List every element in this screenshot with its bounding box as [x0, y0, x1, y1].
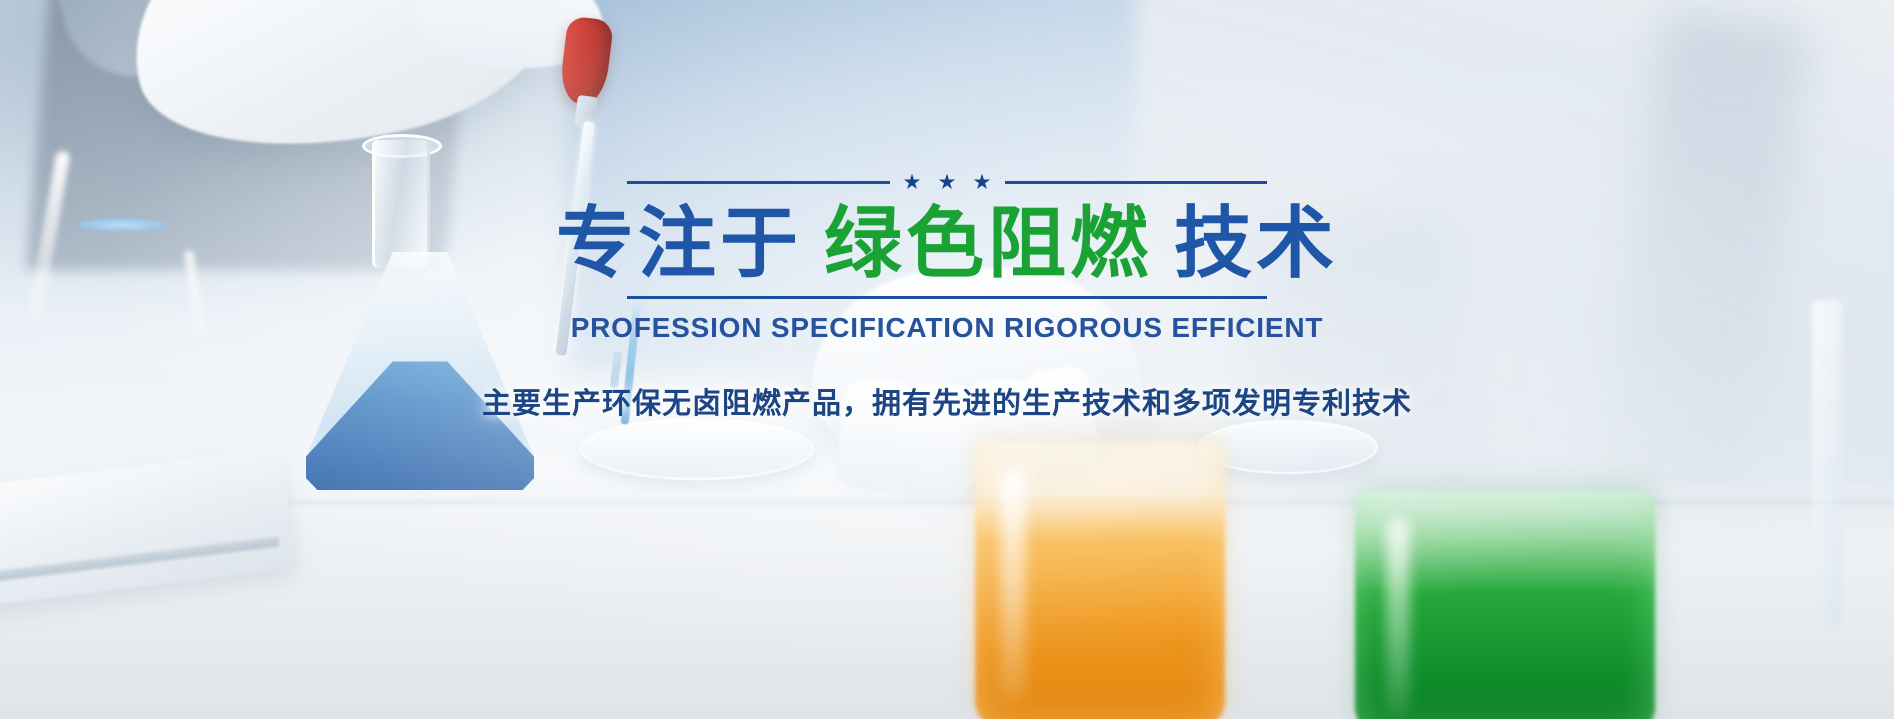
star-icon [974, 174, 991, 191]
divider-rule-right [1005, 181, 1268, 184]
star-icon [904, 174, 921, 191]
description-text: 主要生产环保无卤阻燃产品，拥有先进的生产技术和多项发明专利技术 [482, 380, 1412, 422]
headline-part-1: 专注于 [556, 199, 802, 289]
headline-part-3: 技术 [1174, 199, 1338, 289]
star-icon [939, 174, 956, 191]
headline-part-2: 绿色阻燃 [824, 199, 1152, 289]
star-group [904, 174, 991, 191]
divider-rule-left [627, 181, 890, 184]
hero-banner: 专注于绿色阻燃技术 PROFESSION SPECIFICATION RIGOR… [0, 0, 1894, 719]
banner-content: 专注于绿色阻燃技术 PROFESSION SPECIFICATION RIGOR… [0, 0, 1894, 719]
star-divider [627, 172, 1267, 192]
headline: 专注于绿色阻燃技术 [556, 202, 1338, 286]
headline-underline [627, 296, 1267, 299]
english-subtitle: PROFESSION SPECIFICATION RIGOROUS EFFICI… [571, 312, 1324, 344]
